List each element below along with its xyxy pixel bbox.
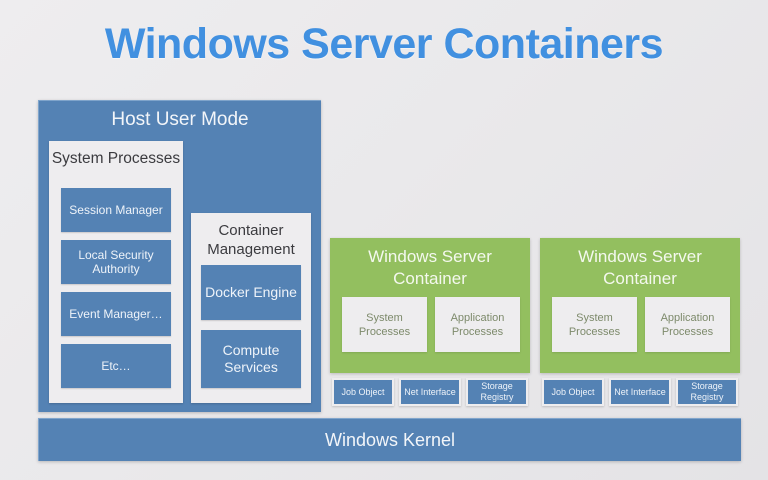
- container-1-storage-registry-box: Storage Registry: [466, 378, 528, 406]
- container-1-resource-row: Job Object Net Interface Storage Registr…: [330, 378, 530, 406]
- session-manager-box: Session Manager: [61, 188, 171, 232]
- container-2-system-processes-box: System Processes: [552, 297, 637, 352]
- container-2-application-processes-box: Application Processes: [645, 297, 730, 352]
- event-manager-box: Event Manager…: [61, 292, 171, 336]
- system-processes-card: System Processes Session Manager Local S…: [49, 141, 183, 403]
- container-2-resource-row: Job Object Net Interface Storage Registr…: [540, 378, 740, 406]
- etc-box: Etc…: [61, 344, 171, 388]
- compute-services-box: Compute Services: [201, 330, 301, 388]
- system-processes-title: System Processes: [49, 149, 183, 168]
- page-title: Windows Server Containers: [0, 20, 768, 69]
- container-2-net-interface-box: Net Interface: [609, 378, 671, 406]
- local-security-authority-box: Local Security Authority: [61, 240, 171, 284]
- container-2-job-object-box: Job Object: [542, 378, 604, 406]
- host-user-mode-title: Host User Mode: [39, 109, 321, 131]
- slide-canvas: Windows Server Containers Host User Mode…: [0, 0, 768, 480]
- container-1-job-object-box: Job Object: [332, 378, 394, 406]
- docker-engine-box: Docker Engine: [201, 265, 301, 320]
- container-1-net-interface-box: Net Interface: [399, 378, 461, 406]
- container-2-storage-registry-box: Storage Registry: [676, 378, 738, 406]
- windows-server-container-panel-2: Windows Server Container System Processe…: [540, 238, 740, 373]
- container-1-application-processes-box: Application Processes: [435, 297, 520, 352]
- container-management-card: Container Management Docker Engine Compu…: [191, 213, 311, 403]
- windows-server-container-panel-1: Windows Server Container System Processe…: [330, 238, 530, 373]
- container-1-system-processes-box: System Processes: [342, 297, 427, 352]
- host-user-mode-panel: Host User Mode System Processes Session …: [38, 100, 321, 412]
- container-2-title: Windows Server Container: [540, 246, 740, 290]
- windows-kernel-bar: Windows Kernel: [38, 418, 741, 461]
- container-1-title: Windows Server Container: [330, 246, 530, 290]
- windows-kernel-label: Windows Kernel: [325, 430, 455, 451]
- container-management-title: Container Management: [191, 221, 311, 259]
